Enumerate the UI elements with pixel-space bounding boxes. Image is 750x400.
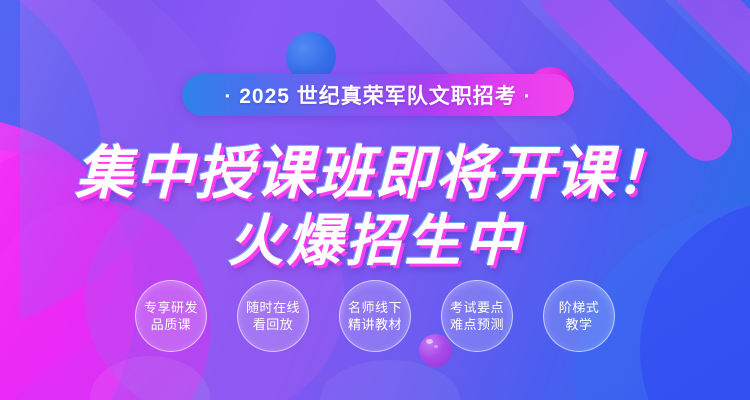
feature-badge[interactable]: 专享研发 品质课 [135,280,207,352]
feature-badge[interactable]: 随时在线 看回放 [237,280,309,352]
feature-badge-line1: 名师线下 [348,299,402,316]
feature-badge-line2: 精讲教材 [348,316,402,333]
subtitle-pill: · 2025 世纪真荣军队文职招考 · [182,74,574,116]
subtitle-text: · 2025 世纪真荣军队文职招考 · [224,80,531,110]
feature-badge-line1: 阶梯式 [559,299,600,316]
feature-badge-line1: 考试要点 [450,299,504,316]
feature-badge-line1: 专享研发 [144,299,198,316]
headline-secondary: 火爆招生中 [0,196,750,277]
feature-badge-line1: 随时在线 [246,299,300,316]
feature-badge-row: 专享研发 品质课 随时在线 看回放 名师线下 精讲教材 考试要点 难点预测 阶梯… [0,280,750,352]
feature-badge-line2: 教学 [565,316,592,333]
feature-badge[interactable]: 阶梯式 教学 [543,280,615,352]
feature-badge-line2: 看回放 [253,316,294,333]
feature-badge[interactable]: 考试要点 难点预测 [441,280,513,352]
feature-badge[interactable]: 名师线下 精讲教材 [339,280,411,352]
feature-badge-line2: 品质课 [151,316,192,333]
feature-badge-line2: 难点预测 [450,316,504,333]
promo-banner: · 2025 世纪真荣军队文职招考 · 集中授课班即将开课！ 火爆招生中 专享研… [0,0,750,400]
